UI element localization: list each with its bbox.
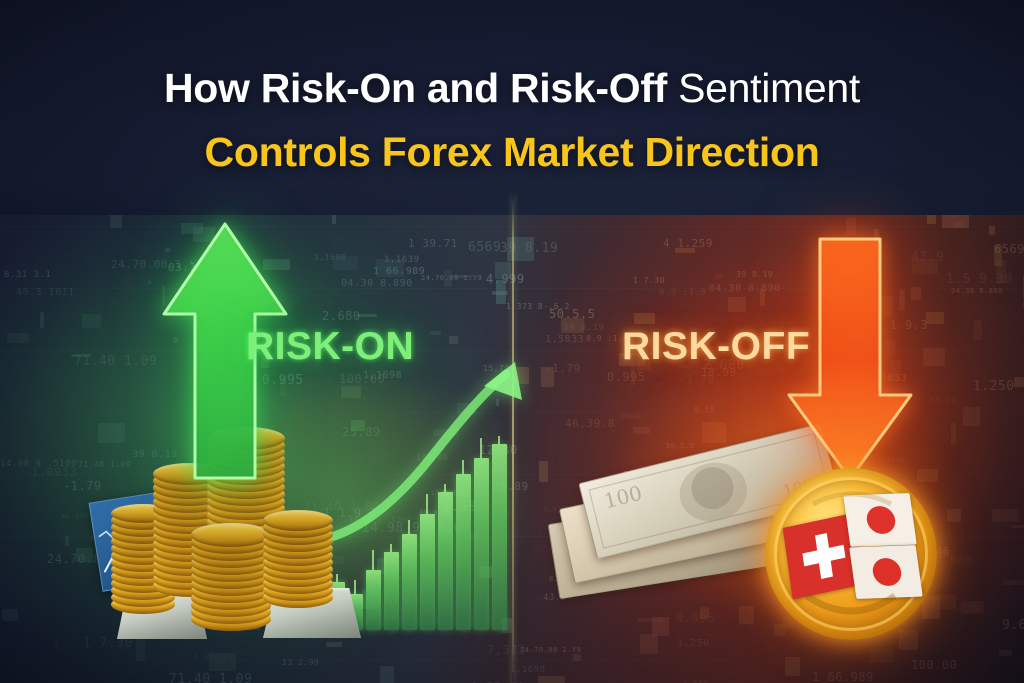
title-line-2: Controls Forex Market Direction (0, 128, 1024, 176)
hero-banner-image: 50.5.518.991 39.717,3331.2507,3331.5 9.3… (0, 0, 1024, 683)
coin-wreath (765, 468, 937, 640)
risk-off-label: RISK-OFF (622, 325, 810, 369)
title-line-1: How Risk-On and Risk-Off Sentiment (0, 64, 1024, 112)
risk-on-label: RISK-ON (246, 325, 414, 369)
title-block: How Risk-On and Risk-Off Sentiment Contr… (0, 64, 1024, 177)
title-line-1-bold: How Risk-On and Risk-Off (164, 65, 667, 111)
gold-coin (263, 510, 333, 531)
gold-coin (191, 523, 271, 547)
title-line-1-light: Sentiment (667, 65, 860, 111)
safe-haven-coin-icon (765, 468, 937, 640)
